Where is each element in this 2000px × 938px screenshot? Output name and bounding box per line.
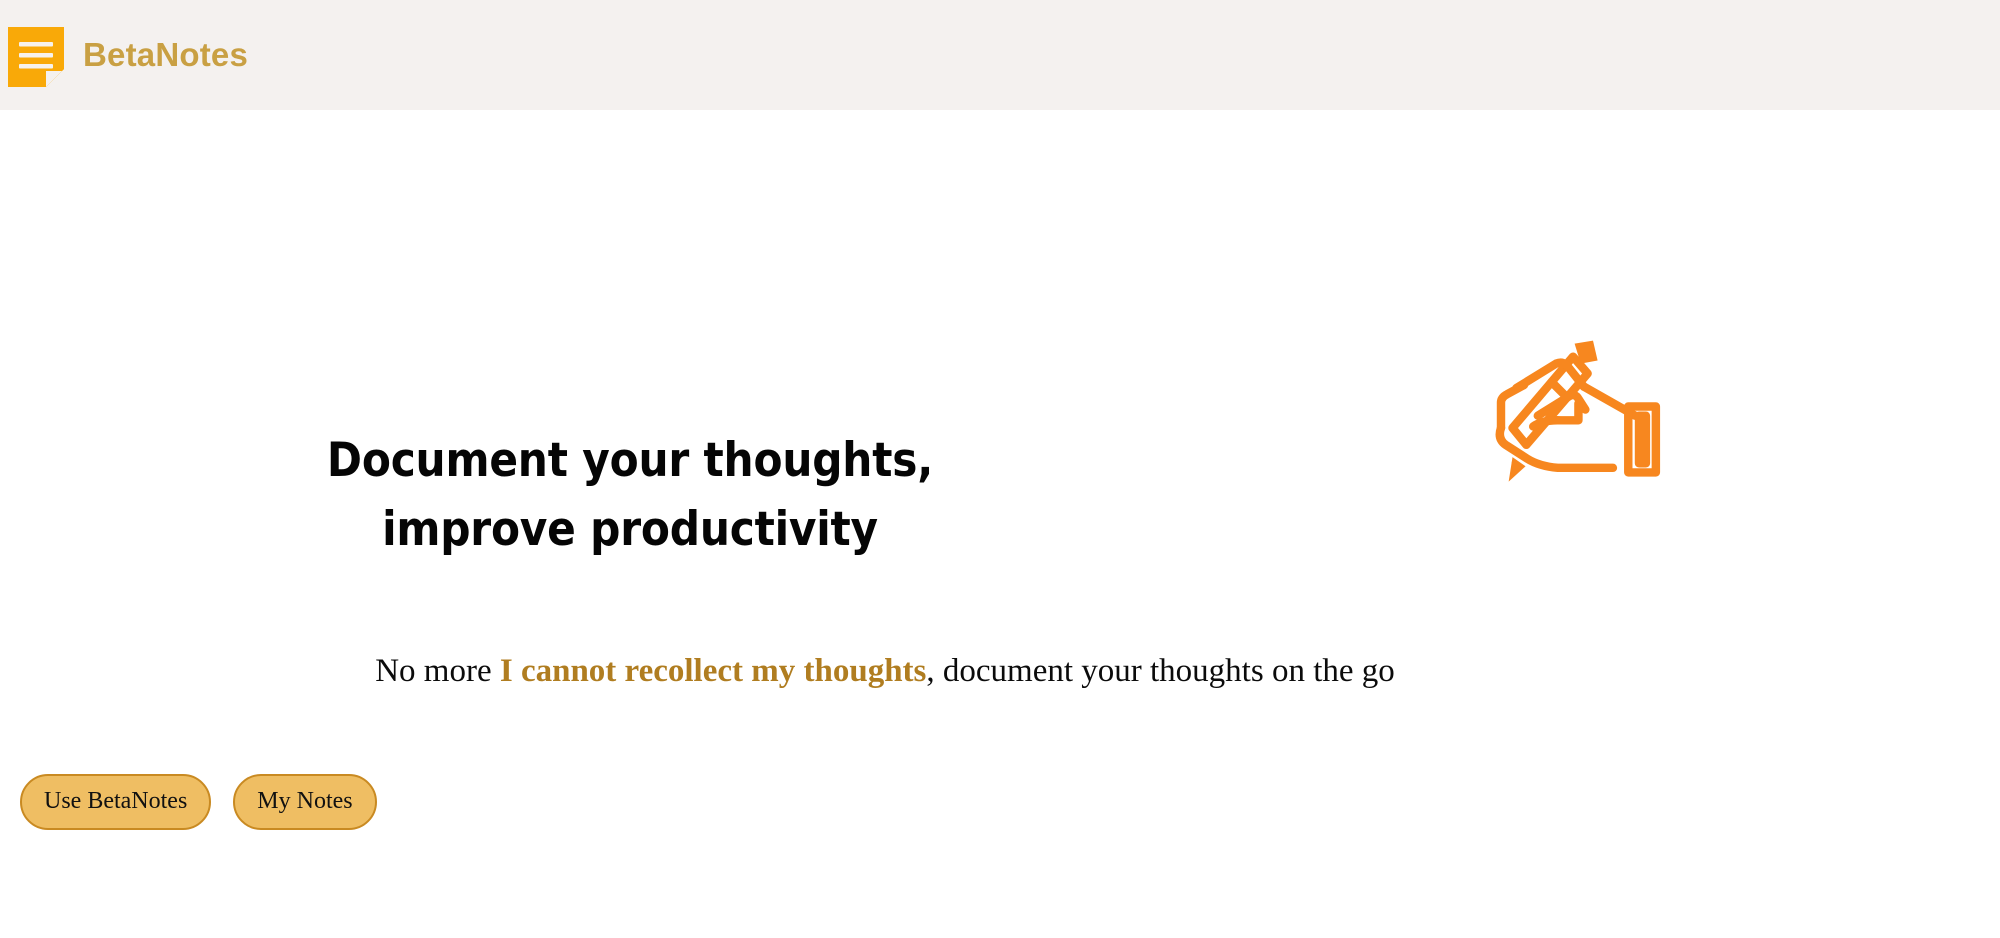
note-lines-icon[interactable]: [0, 19, 72, 91]
hero-subtitle-before: No more: [375, 653, 500, 689]
hero-subtitle-accent: I cannot recollect my thoughts: [500, 653, 927, 689]
hero-subtitle: No more I cannot recollect my thoughts, …: [250, 651, 1520, 691]
brand-name: BetaNotes: [83, 36, 248, 74]
hero-subtitle-after: , document your thoughts on the go: [926, 653, 1394, 689]
my-notes-button[interactable]: My Notes: [233, 774, 376, 830]
hand-holding-pencil-icon: [1478, 328, 1708, 508]
page-title: Document your thoughts, improve producti…: [250, 426, 1010, 564]
page-title-line-2: productivity: [590, 502, 878, 557]
hero-actions: Use BetaNotes My Notes: [20, 774, 377, 830]
app-header: BetaNotes: [0, 0, 2000, 110]
brand-logo[interactable]: BetaNotes: [0, 0, 248, 110]
use-betanotes-button[interactable]: Use BetaNotes: [20, 774, 211, 830]
hero-section: Document your thoughts, improve producti…: [0, 110, 2000, 938]
